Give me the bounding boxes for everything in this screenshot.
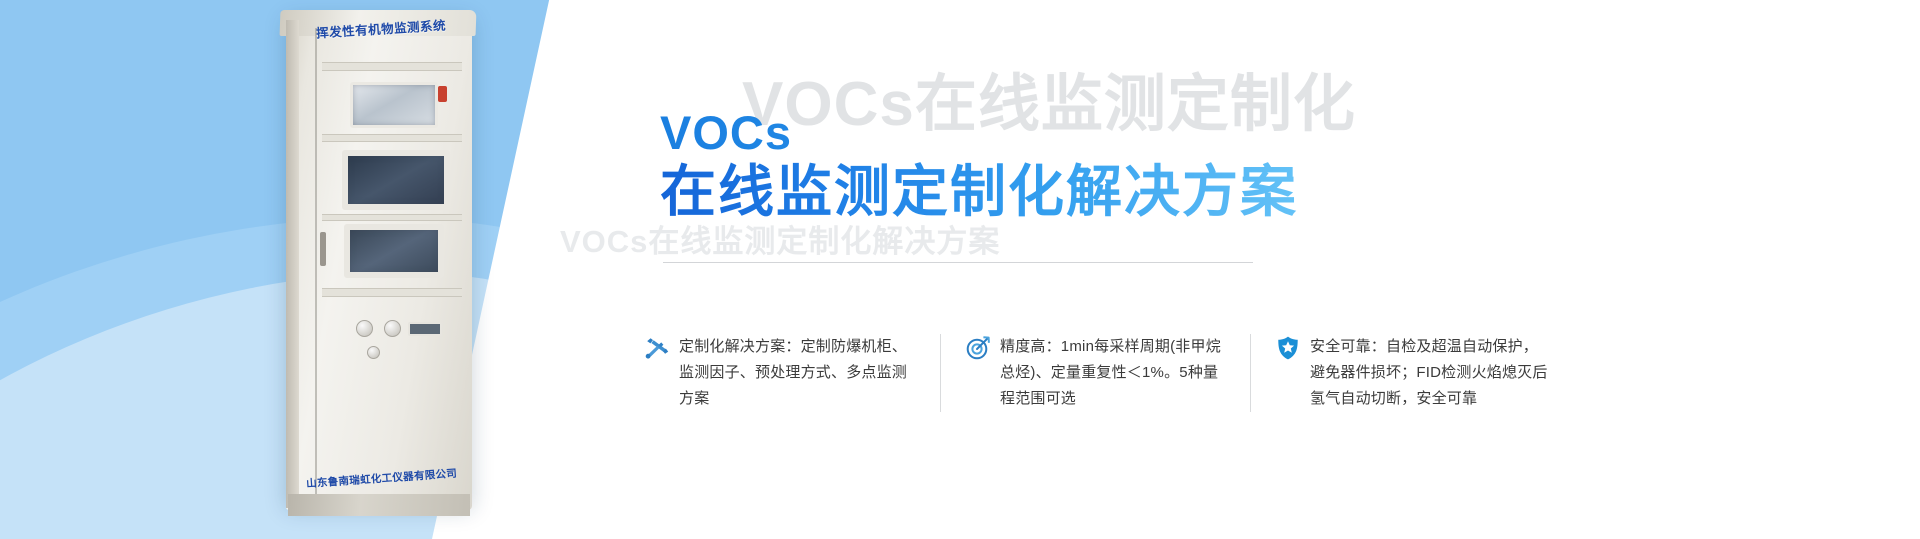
cabinet-display-screen-upper bbox=[342, 150, 450, 210]
cabinet-knob bbox=[367, 346, 380, 359]
shield-star-icon bbox=[1275, 335, 1301, 361]
headline-chinese: 在线监测定制化解决方案 bbox=[660, 161, 1298, 223]
feature-item-safety: 安全可靠：自检及超温自动保护，避免器件损坏；FID检测火焰熄灭后氢气自动切断，安… bbox=[1250, 334, 1570, 412]
cabinet-left-edge bbox=[286, 20, 299, 508]
cabinet-door-handle bbox=[320, 232, 326, 266]
cabinet-knob bbox=[356, 320, 373, 337]
feature-list: 定制化解决方案：定制防爆机柜、监测因子、预处理方式、多点监测方案 精度高：1mi… bbox=[644, 334, 1570, 412]
headline-block: VOCs 在线监测定制化解决方案 bbox=[660, 107, 1298, 223]
cabinet-base bbox=[288, 494, 470, 516]
cabinet-knob bbox=[384, 320, 401, 337]
product-analyzer-cabinet: 挥发性有机物监测系统 山东鲁南瑞虹化工仪器有限公司 bbox=[268, 2, 490, 530]
cabinet-display-screen-lower bbox=[344, 224, 444, 278]
feature-text: 定制化解决方案：定制防爆机柜、监测因子、预处理方式、多点监测方案 bbox=[679, 334, 918, 412]
cabinet-small-lcd bbox=[408, 322, 442, 336]
headline-english: VOCs bbox=[660, 107, 1298, 159]
feature-text: 精度高：1min每采样周期(非甲烷总烃)、定量重复性＜1%。5种量程范围可选 bbox=[1000, 334, 1228, 412]
feature-item-customization: 定制化解决方案：定制防爆机柜、监测因子、预处理方式、多点监测方案 bbox=[644, 334, 940, 412]
cabinet-upper-window bbox=[350, 82, 438, 128]
cabinet-door-seam bbox=[315, 28, 317, 500]
cabinet-module-strip bbox=[322, 62, 462, 71]
tools-icon bbox=[644, 335, 670, 361]
target-accuracy-icon bbox=[965, 335, 991, 361]
cabinet-status-led bbox=[438, 86, 447, 102]
headline-divider bbox=[663, 262, 1253, 263]
feature-text: 安全可靠：自检及超温自动保护，避免器件损坏；FID检测火焰熄灭后氢气自动切断，安… bbox=[1310, 334, 1548, 412]
cabinet-module-strip bbox=[322, 288, 462, 297]
cabinet-module-strip bbox=[322, 134, 462, 142]
vocs-promo-banner: 挥发性有机物监测系统 山东鲁南瑞虹化工仪器有限公司 VOCs在线监测定制化 VO… bbox=[0, 0, 1920, 539]
feature-item-accuracy: 精度高：1min每采样周期(非甲烷总烃)、定量重复性＜1%。5种量程范围可选 bbox=[940, 334, 1250, 412]
cabinet-module-strip bbox=[322, 214, 462, 221]
